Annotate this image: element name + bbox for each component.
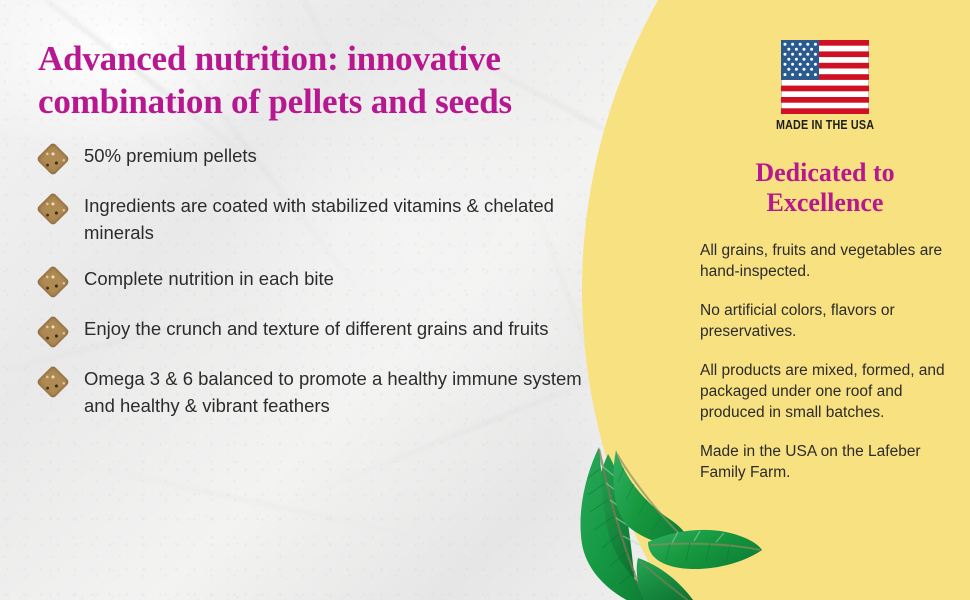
- made-in-usa-label: MADE IN THE USA: [776, 118, 874, 132]
- list-item-label: Omega 3 & 6 balanced to promote a health…: [84, 366, 608, 420]
- list-item: Made in the USA on the Lafeber Family Fa…: [700, 441, 950, 483]
- list-item-label: Complete nutrition in each bite: [84, 266, 334, 293]
- left-content-column: Advanced nutrition: innovative combinati…: [38, 38, 608, 439]
- dedicated-to-excellence-heading: Dedicated to Excellence: [700, 158, 950, 218]
- pellet-seed-icon: [38, 267, 68, 297]
- pellet-seed-icon: [38, 144, 68, 174]
- page-title: Advanced nutrition: innovative combinati…: [38, 38, 608, 123]
- list-item: Enjoy the crunch and texture of differen…: [38, 316, 608, 347]
- quality-claims-list: All grains, fruits and vegetables are ha…: [700, 240, 950, 484]
- product-feature-banner: Advanced nutrition: innovative combinati…: [0, 0, 970, 600]
- usa-flag-icon: [781, 40, 869, 114]
- list-item: All products are mixed, formed, and pack…: [700, 360, 950, 423]
- list-item: Ingredients are coated with stabilized v…: [38, 193, 608, 247]
- list-item-label: Ingredients are coated with stabilized v…: [84, 193, 608, 247]
- list-item: Omega 3 & 6 balanced to promote a health…: [38, 366, 608, 420]
- pellet-seed-icon: [38, 317, 68, 347]
- list-item: All grains, fruits and vegetables are ha…: [700, 240, 950, 282]
- list-item: No artificial colors, flavors or preserv…: [700, 300, 950, 342]
- list-item: 50% premium pellets: [38, 143, 608, 174]
- right-content-column: MADE IN THE USA Dedicated to Excellence …: [700, 40, 950, 483]
- pellet-seed-icon: [38, 194, 68, 224]
- pellet-seed-icon: [38, 367, 68, 397]
- list-item-label: 50% premium pellets: [84, 143, 257, 170]
- feature-bullet-list: 50% premium pellets Ingredients are coat…: [38, 143, 608, 419]
- list-item: Complete nutrition in each bite: [38, 266, 608, 297]
- list-item-label: Enjoy the crunch and texture of differen…: [84, 316, 549, 343]
- made-in-usa-badge: MADE IN THE USA: [700, 40, 950, 132]
